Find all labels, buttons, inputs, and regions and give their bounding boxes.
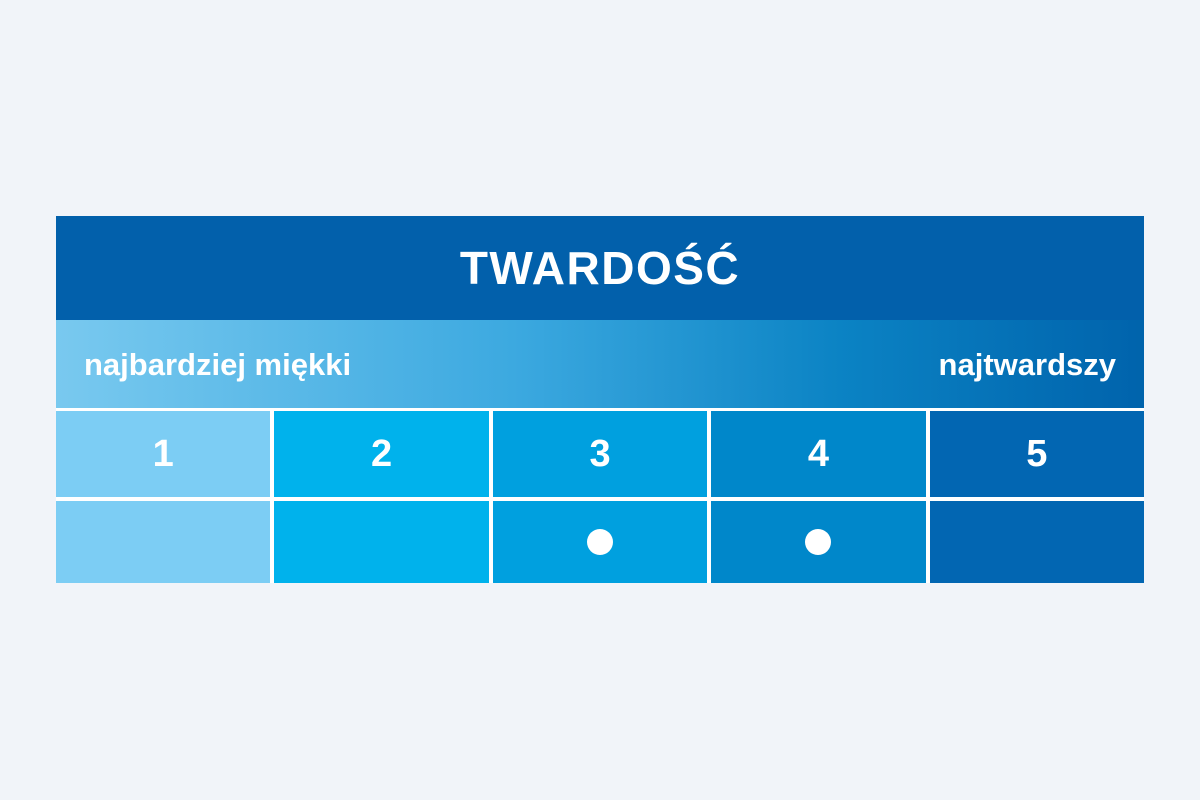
scale-marker-cell-5[interactable]: [926, 501, 1144, 583]
scale-level-number-3: 3: [589, 435, 610, 473]
scale-level-number-2: 2: [371, 435, 392, 473]
scale-marker-cell-4[interactable]: [707, 501, 925, 583]
scale-marker-cell-1[interactable]: [56, 501, 270, 583]
scale-level-number-5: 5: [1026, 435, 1047, 473]
page-root: TWARDOŚĆ najbardziej miękki najtwardszy …: [0, 0, 1200, 800]
page-title: TWARDOŚĆ: [460, 245, 740, 291]
scale-marker-row: [56, 497, 1144, 583]
scale-level-cell-3[interactable]: 3: [489, 411, 707, 497]
legend-label-softest: najbardziej miękki: [84, 349, 351, 380]
scale-number-row: 1 2 3 4 5: [56, 408, 1144, 497]
scale-legend-row: najbardziej miękki najtwardszy: [56, 320, 1144, 408]
dot-marker-icon-4: [805, 529, 831, 555]
legend-label-hardest: najtwardszy: [939, 349, 1116, 380]
scale-level-cell-5[interactable]: 5: [926, 411, 1144, 497]
scale-title-bar: TWARDOŚĆ: [56, 216, 1144, 320]
dot-marker-icon-3: [587, 529, 613, 555]
scale-level-cell-1[interactable]: 1: [56, 411, 270, 497]
scale-marker-cell-2[interactable]: [270, 501, 488, 583]
scale-level-number-1: 1: [153, 435, 174, 473]
scale-marker-cell-3[interactable]: [489, 501, 707, 583]
scale-level-cell-4[interactable]: 4: [707, 411, 925, 497]
hardness-scale-table: TWARDOŚĆ najbardziej miękki najtwardszy …: [56, 216, 1144, 583]
scale-level-number-4: 4: [808, 435, 829, 473]
scale-level-cell-2[interactable]: 2: [270, 411, 488, 497]
